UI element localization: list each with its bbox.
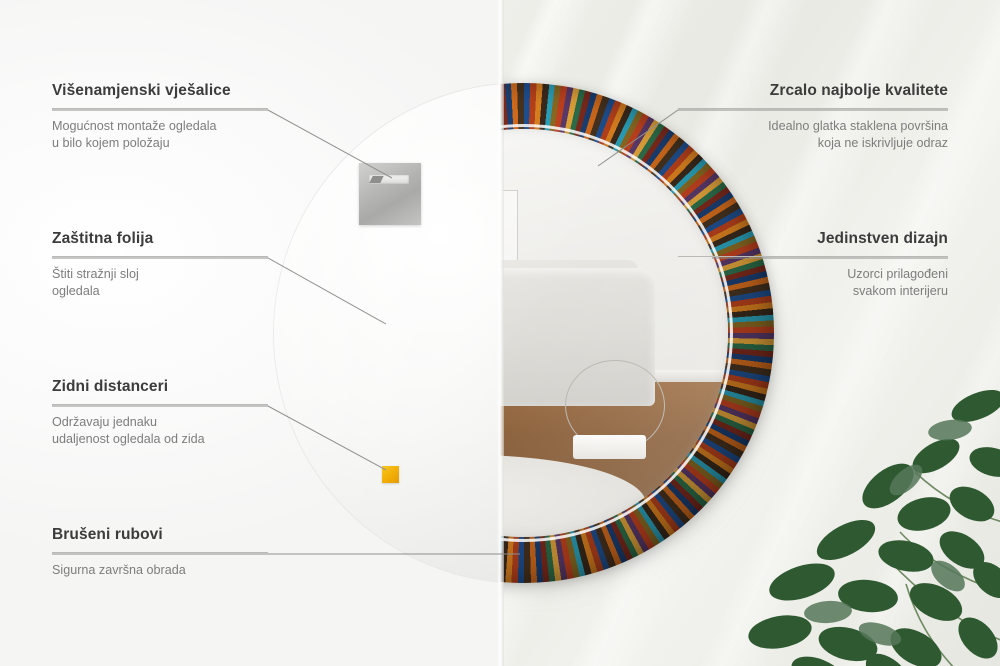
callout-unique-design-rule	[678, 256, 948, 257]
plant-decoration	[710, 344, 1000, 666]
callout-best-quality-title: Zrcalo najbolje kvalitete	[678, 82, 948, 101]
callout-wall-spacers: Zidni distanceri Održavaju jednaku udalj…	[52, 378, 268, 449]
wall-spacer	[382, 466, 399, 483]
hanger-bracket	[359, 163, 421, 225]
callout-unique-design: Jedinstven dizajn Uzorci prilagođeni sva…	[678, 230, 948, 301]
callout-protective-film-rule	[52, 256, 268, 257]
callout-best-quality-body: Idealno glatka staklena površina koja ne…	[678, 118, 948, 154]
half-split-seam	[497, 0, 504, 666]
callout-polished-edges-body: Sigurna završna obrada	[52, 562, 268, 580]
callout-best-quality-rule	[678, 108, 948, 109]
callout-hangers-title: Višenamjenski vješalice	[52, 82, 268, 101]
callout-polished-edges-title: Brušeni rubovi	[52, 526, 268, 545]
infographic-canvas: Višenamjenski vješalice Mogućnost montaž…	[0, 0, 1000, 666]
callout-hangers-body: Mogućnost montaže ogledala u bilo kojem …	[52, 118, 268, 154]
callout-wall-spacers-body: Održavaju jednaku udaljenost ogledala od…	[52, 414, 268, 450]
callout-protective-film-title: Zaštitna folija	[52, 230, 268, 249]
callout-hangers-rule	[52, 108, 268, 109]
product-disc-shading	[274, 83, 502, 583]
callout-best-quality: Zrcalo najbolje kvalitete Idealno glatka…	[678, 82, 948, 153]
callout-polished-edges: Brušeni rubovi Sigurna završna obrada	[52, 526, 268, 579]
callout-protective-film: Zaštitna folija Štiti stražnji sloj ogle…	[52, 230, 268, 301]
callout-wall-spacers-rule	[52, 404, 268, 405]
callout-unique-design-title: Jedinstven dizajn	[678, 230, 948, 249]
callout-hangers: Višenamjenski vješalice Mogućnost montaž…	[52, 82, 268, 153]
callout-wall-spacers-title: Zidni distanceri	[52, 378, 268, 397]
callout-protective-film-body: Štiti stražnji sloj ogledala	[52, 266, 268, 302]
callout-unique-design-body: Uzorci prilagođeni svakom interijeru	[678, 266, 948, 302]
hanger-slot-icon	[369, 175, 409, 184]
callout-polished-edges-rule	[52, 552, 268, 553]
